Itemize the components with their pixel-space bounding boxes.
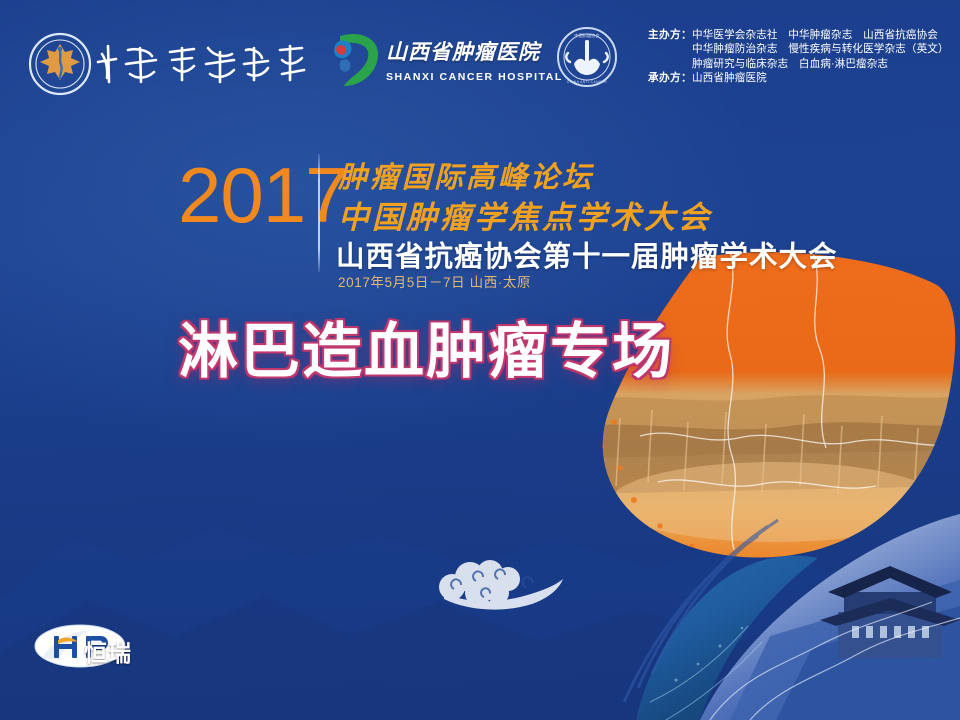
conference-subtitle: 山西省抗癌协会第十一届肿瘤学术大会 xyxy=(336,234,838,275)
calligraphy-line-2: 中国肿瘤学焦点学术大会 xyxy=(338,192,712,237)
sch-name-cn: 山西省肿瘤医院 xyxy=(386,36,551,66)
shanxi-cancer-hospital-text: 山西省肿瘤医院 SHANXI CANCER HOSPITAL xyxy=(386,36,551,88)
host-line-2: 中华肿瘤防治杂志 慢性疾病与转化医学杂志（英文） xyxy=(648,42,948,56)
header-bar: 山西省肿瘤医院 SHANXI CANCER HOSPITAL 中国抗癌协会 CH… xyxy=(0,0,960,115)
host-line-1: 主办方：中华医学会杂志社 中华肿瘤杂志 山西省抗癌协会 xyxy=(648,28,948,42)
conference-dateline: 2017年5月5日－7日 山西·太原 xyxy=(338,271,531,291)
conference-title-lockup: 2017 肿瘤国际高峰论坛 中国肿瘤学焦点学术大会 山西省抗癌协会第十一届肿瘤学… xyxy=(178,150,878,300)
svg-text:中国抗癌协会: 中国抗癌协会 xyxy=(574,32,600,39)
undertaker-line: 承办方：山西省肿瘤医院 xyxy=(648,71,948,85)
host-value-1: 中华医学会杂志社 中华肿瘤杂志 山西省抗癌协会 xyxy=(692,29,938,41)
host-label: 主办方： xyxy=(648,29,692,41)
calligraphy-line-1: 肿瘤国际高峰论坛 xyxy=(338,154,594,196)
conference-year: 2017 xyxy=(178,156,348,234)
undertaker-value: 山西省肿瘤医院 xyxy=(692,72,767,84)
chinese-medical-association-logo xyxy=(28,32,92,96)
sch-name-en: SHANXI CANCER HOSPITAL xyxy=(386,71,551,83)
conference-title-slide: 山西省肿瘤医院 SHANXI CANCER HOSPITAL 中国抗癌协会 CH… xyxy=(0,0,960,720)
shanxi-cancer-hospital-mark xyxy=(330,28,382,90)
organizer-credits: 主办方：中华医学会杂志社 中华肿瘤杂志 山西省抗癌协会 中华肿瘤防治杂志 慢性疾… xyxy=(648,28,948,86)
hengrui-name-cn: 恒瑞 xyxy=(84,634,132,668)
svg-text:CHINA ANTI-CANCER: CHINA ANTI-CANCER xyxy=(567,80,607,84)
host-line-3: 肿瘤研究与临床杂志 白血病·淋巴瘤杂志 xyxy=(648,57,948,71)
undertaker-label: 承办方： xyxy=(648,72,692,84)
title-divider xyxy=(318,154,320,272)
chinese-anti-cancer-association-logo: 中国抗癌协会 CHINA ANTI-CANCER xyxy=(556,26,618,88)
cma-wordmark xyxy=(96,38,311,90)
session-headline: 淋巴造血肿瘤专场 xyxy=(178,316,674,388)
